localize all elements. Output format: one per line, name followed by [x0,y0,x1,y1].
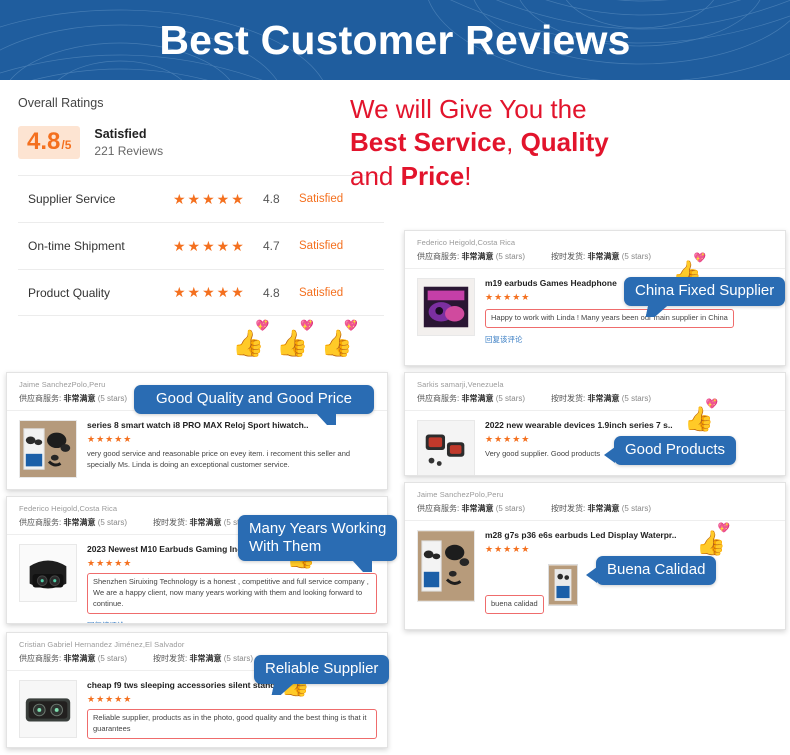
metric-stars-icon: ★★★★★ [173,284,263,301]
metric-status: Satisfied [299,240,343,252]
metric-label: On-time Shipment [18,239,173,253]
thumbs-up-glyph: 👍 [276,328,308,358]
promo-exclamation: ! [464,161,471,191]
review-rating-bar: 供应商服务: 非常满意 (5 stars) 按时发货: 非常满意 (5 star… [417,251,775,262]
review-rating-bar: 供应商服务: 非常满意 (5 stars) 按时发货: 非常满意 (5 star… [417,393,775,404]
heart-icon: 💖 [705,400,717,410]
review-text: Happy to work with Linda ! Many years be… [485,309,734,328]
on-time-shipment-rating: 按时发货: 非常满意 (5 stars) [551,393,651,404]
promo-quality: Quality [521,127,609,157]
review-card-buena-calidad[interactable]: Jaime SanchezPolo,Peru 供应商服务: 非常满意 (5 st… [404,482,786,630]
product-title[interactable]: 2022 new wearable devices 1.9inch series… [485,420,775,430]
metric-value: 4.8 [263,286,299,300]
review-attached-photo[interactable] [548,564,578,606]
metric-stars-icon: ★★★★★ [173,191,263,208]
supplier-service-rating: 供应商服务: 非常满意 (5 stars) [417,393,525,404]
review-text: Reliable supplier, products as in the ph… [87,709,377,739]
metric-row-on-time-shipment: On-time Shipment ★★★★★ 4.7 Satisfied [18,222,384,269]
product-thumbnail[interactable] [19,420,77,478]
review-text: very good service and reasonable price o… [87,449,377,471]
thumbs-up-icon: 👍💖 [232,330,264,356]
supplier-service-rating: 供应商服务: 非常满意 (5 stars) [417,251,525,262]
page-header-banner: Best Customer Reviews [0,0,790,80]
heart-icon: 💖 [693,254,705,264]
callout-reliable-supplier: Reliable Supplier [254,655,389,684]
review-card-header: Sarkis samarji,Venezuela 供应商服务: 非常满意 (5 … [405,373,785,411]
supplier-service-rating: 供应商服务: 非常满意 (5 stars) [417,503,525,514]
thumbs-up-glyph: 👍 [321,328,353,358]
metric-stars-icon: ★★★★★ [173,238,263,255]
promo-best-service: Best Service [350,127,506,157]
supplier-service-rating: 供应商服务: 非常满意 (5 stars) [19,517,127,528]
thumbs-up-icon: 👍💖 [696,532,726,556]
overall-ratings-panel: Overall Ratings 4.8 /5 Satisfied 221 Rev… [0,82,400,350]
reviewer-name: Federico Heigold,Costa Rica [417,238,775,247]
product-title[interactable]: m28 g7s p36 e6s earbuds Led Display Wate… [485,530,775,540]
on-time-shipment-rating: 按时发货: 非常满意 (5 stars) [551,251,651,262]
promo-line-1: We will Give You the [350,93,790,126]
review-text: Shenzhen Siruixing Technology is a hones… [87,573,377,614]
overall-ratings-heading: Overall Ratings [18,96,384,110]
thumbs-up-icon: 👍💖 [321,330,353,356]
reviewer-name: Jaime SanchezPolo,Peru [417,490,775,499]
product-thumbnail[interactable] [417,420,475,476]
overall-score-row: 4.8 /5 Satisfied 221 Reviews [18,126,384,159]
reply-link[interactable]: 回复该评论 [485,334,775,345]
thumbs-up-glyph: 👍 [232,328,264,358]
callout-many-years-working: Many Years Working With Them [238,515,397,561]
promo-line-3: and Price! [350,160,790,193]
callout-good-products: Good Products [614,436,736,465]
product-thumbnail[interactable] [19,544,77,602]
page-title: Best Customer Reviews [0,0,790,80]
thumbs-up-icon: 👍💖 [276,330,308,356]
thumbs-up-decoration-row: 👍💖 👍💖 👍💖 [232,330,392,356]
metric-row-product-quality: Product Quality ★★★★★ 4.8 Satisfied [18,269,384,316]
metric-row-supplier-service: Supplier Service ★★★★★ 4.8 Satisfied [18,175,384,222]
callout-good-quality-good-price: Good Quality and Good Price [134,385,374,414]
callout-buena-calidad: Buena Calidad [596,556,716,585]
reviewer-name: Sarkis samarji,Venezuela [417,380,775,389]
heart-icon: 💖 [344,321,358,332]
review-stars-icon: ★★★★★ [87,694,377,705]
promo-line-2: Best Service, Quality [350,126,790,159]
overall-score-badge: 4.8 /5 [18,126,80,159]
product-thumbnail[interactable] [19,680,77,738]
reply-link[interactable]: 回复该评论 [87,620,377,624]
thumbs-up-icon: 👍💖 [684,408,714,432]
heart-icon: 💖 [717,524,729,534]
overall-score-value: 4.8 [27,130,60,154]
on-time-shipment-rating: 按时发货: 非常满意 (5 stars) [153,653,253,664]
review-content: cheap f9 tws sleeping accessories silent… [87,680,377,739]
callout-china-fixed-supplier: China Fixed Supplier [624,277,785,306]
promo-comma: , [506,127,513,157]
promo-tagline: We will Give You the Best Service, Quali… [350,93,790,193]
reviewer-name: Federico Heigold,Costa Rica [19,504,377,513]
metric-label: Product Quality [18,286,173,300]
supplier-service-rating: 供应商服务: 非常满意 (5 stars) [19,653,127,664]
review-stars-icon: ★★★★★ [87,434,377,445]
metric-value: 4.8 [263,192,299,206]
supplier-service-rating: 供应商服务: 非常满意 (5 stars) [19,393,127,404]
review-card-header: Federico Heigold,Costa Rica 供应商服务: 非常满意 … [405,231,785,269]
metric-status: Satisfied [299,193,343,205]
heart-icon: 💖 [300,321,314,332]
metric-value: 4.7 [263,239,299,253]
review-text: buena calidad [485,595,544,614]
reviews-count: 221 Reviews [94,144,163,158]
review-rating-bar: 供应商服务: 非常满意 (5 stars) 按时发货: 非常满意 (5 star… [417,503,775,514]
review-card-header: Jaime SanchezPolo,Peru 供应商服务: 非常满意 (5 st… [405,483,785,521]
metric-status: Satisfied [299,287,343,299]
reviewer-name: Cristian Gabriel Hernandez Jiménez,El Sa… [19,640,377,649]
review-stars-icon: ★★★★★ [485,544,775,555]
product-thumbnail[interactable] [417,278,475,336]
review-content: series 8 smart watch i8 PRO MAX Reloj Sp… [87,420,377,478]
overall-score-denominator: /5 [61,139,71,151]
promo-and: and [350,161,393,191]
on-time-shipment-rating: 按时发货: 非常满意 (5 stars) [551,503,651,514]
product-thumbnail[interactable] [417,530,475,602]
promo-price: Price [401,161,465,191]
overall-score-label: Satisfied [94,127,163,141]
overall-score-meta: Satisfied 221 Reviews [94,127,163,158]
review-card-reliable-supplier[interactable]: Cristian Gabriel Hernandez Jiménez,El Sa… [6,632,388,748]
metric-label: Supplier Service [18,192,173,206]
heart-icon: 💖 [256,321,270,332]
